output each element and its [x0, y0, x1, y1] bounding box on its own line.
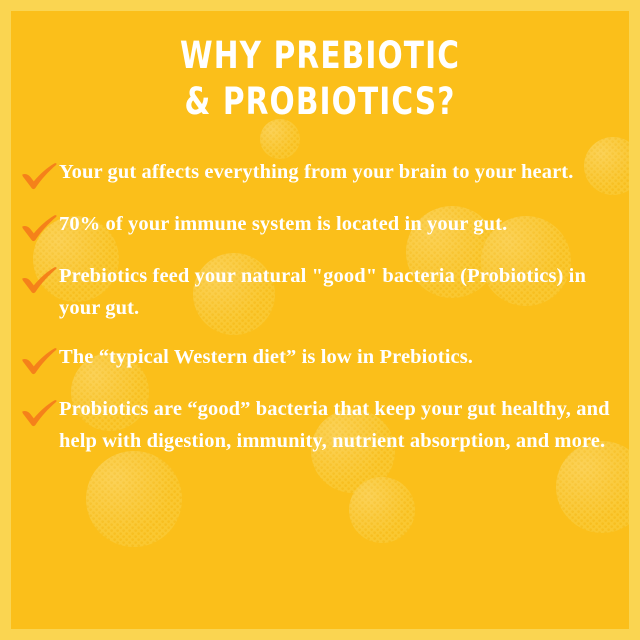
list-item-text: The “typical Western diet” is low in Pre… [59, 341, 617, 373]
list-item: Your gut affects everything from your br… [19, 156, 617, 191]
title-line-1: WHY PREBIOTIC [73, 33, 567, 79]
list-item: The “typical Western diet” is low in Pre… [19, 341, 617, 376]
list-item-text: 70% of your immune system is located in … [59, 208, 617, 240]
bubble-decoration [349, 477, 415, 543]
page-title: WHY PREBIOTIC & PROBIOTICS? [11, 33, 629, 125]
poster-canvas: WHY PREBIOTIC & PROBIOTICS? Your gut aff… [11, 11, 629, 629]
check-icon [19, 264, 59, 295]
title-line-2: & PROBIOTICS? [73, 79, 567, 125]
check-icon [19, 345, 59, 376]
list-item-text: Prebiotics feed your natural "good" bact… [59, 260, 617, 324]
list-item: Prebiotics feed your natural "good" bact… [19, 260, 617, 324]
list-item-text: Probiotics are “good” bacteria that keep… [59, 393, 617, 457]
check-icon [19, 397, 59, 428]
bubble-decoration [260, 119, 300, 159]
list-item: 70% of your immune system is located in … [19, 208, 617, 243]
check-icon [19, 160, 59, 191]
list-item-text: Your gut affects everything from your br… [59, 156, 617, 188]
check-icon [19, 212, 59, 243]
poster: WHY PREBIOTIC & PROBIOTICS? Your gut aff… [0, 0, 640, 640]
list-item: Probiotics are “good” bacteria that keep… [19, 393, 617, 457]
benefits-list: Your gut affects everything from your br… [19, 156, 617, 474]
